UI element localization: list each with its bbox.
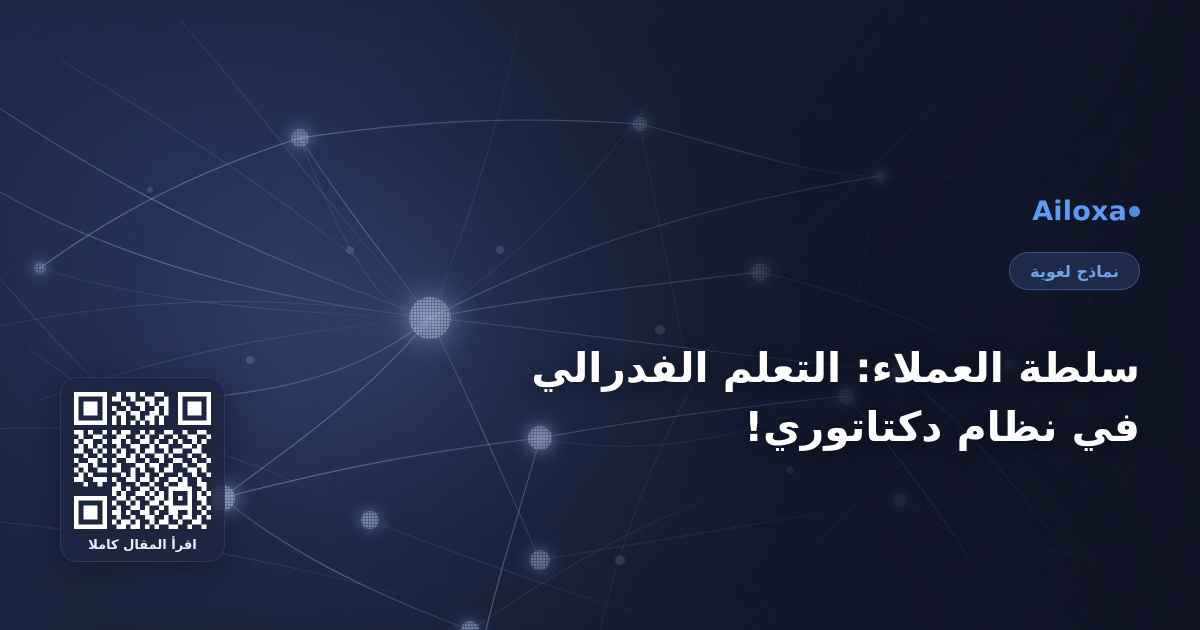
qr-caption: اقرأ المقال كاملا bbox=[88, 538, 197, 553]
brand-name: Ailoxa bbox=[1032, 196, 1127, 227]
qr-card[interactable]: اقرأ المقال كاملا bbox=[60, 377, 225, 562]
brand-logo[interactable]: Ailoxa bbox=[1032, 196, 1140, 227]
category-badge-label: نماذج لغوية bbox=[1030, 262, 1119, 281]
category-badge[interactable]: نماذج لغوية bbox=[1009, 252, 1140, 290]
brand-dot-icon bbox=[1129, 206, 1140, 217]
social-share-card: Ailoxa نماذج لغوية سلطة العملاء: التعلم … bbox=[0, 0, 1200, 630]
page-title: سلطة العملاء: التعلم الفدرالي في نظام دك… bbox=[500, 339, 1140, 455]
qr-code-icon bbox=[74, 392, 211, 529]
content-column: Ailoxa نماذج لغوية سلطة العملاء: التعلم … bbox=[500, 0, 1200, 630]
